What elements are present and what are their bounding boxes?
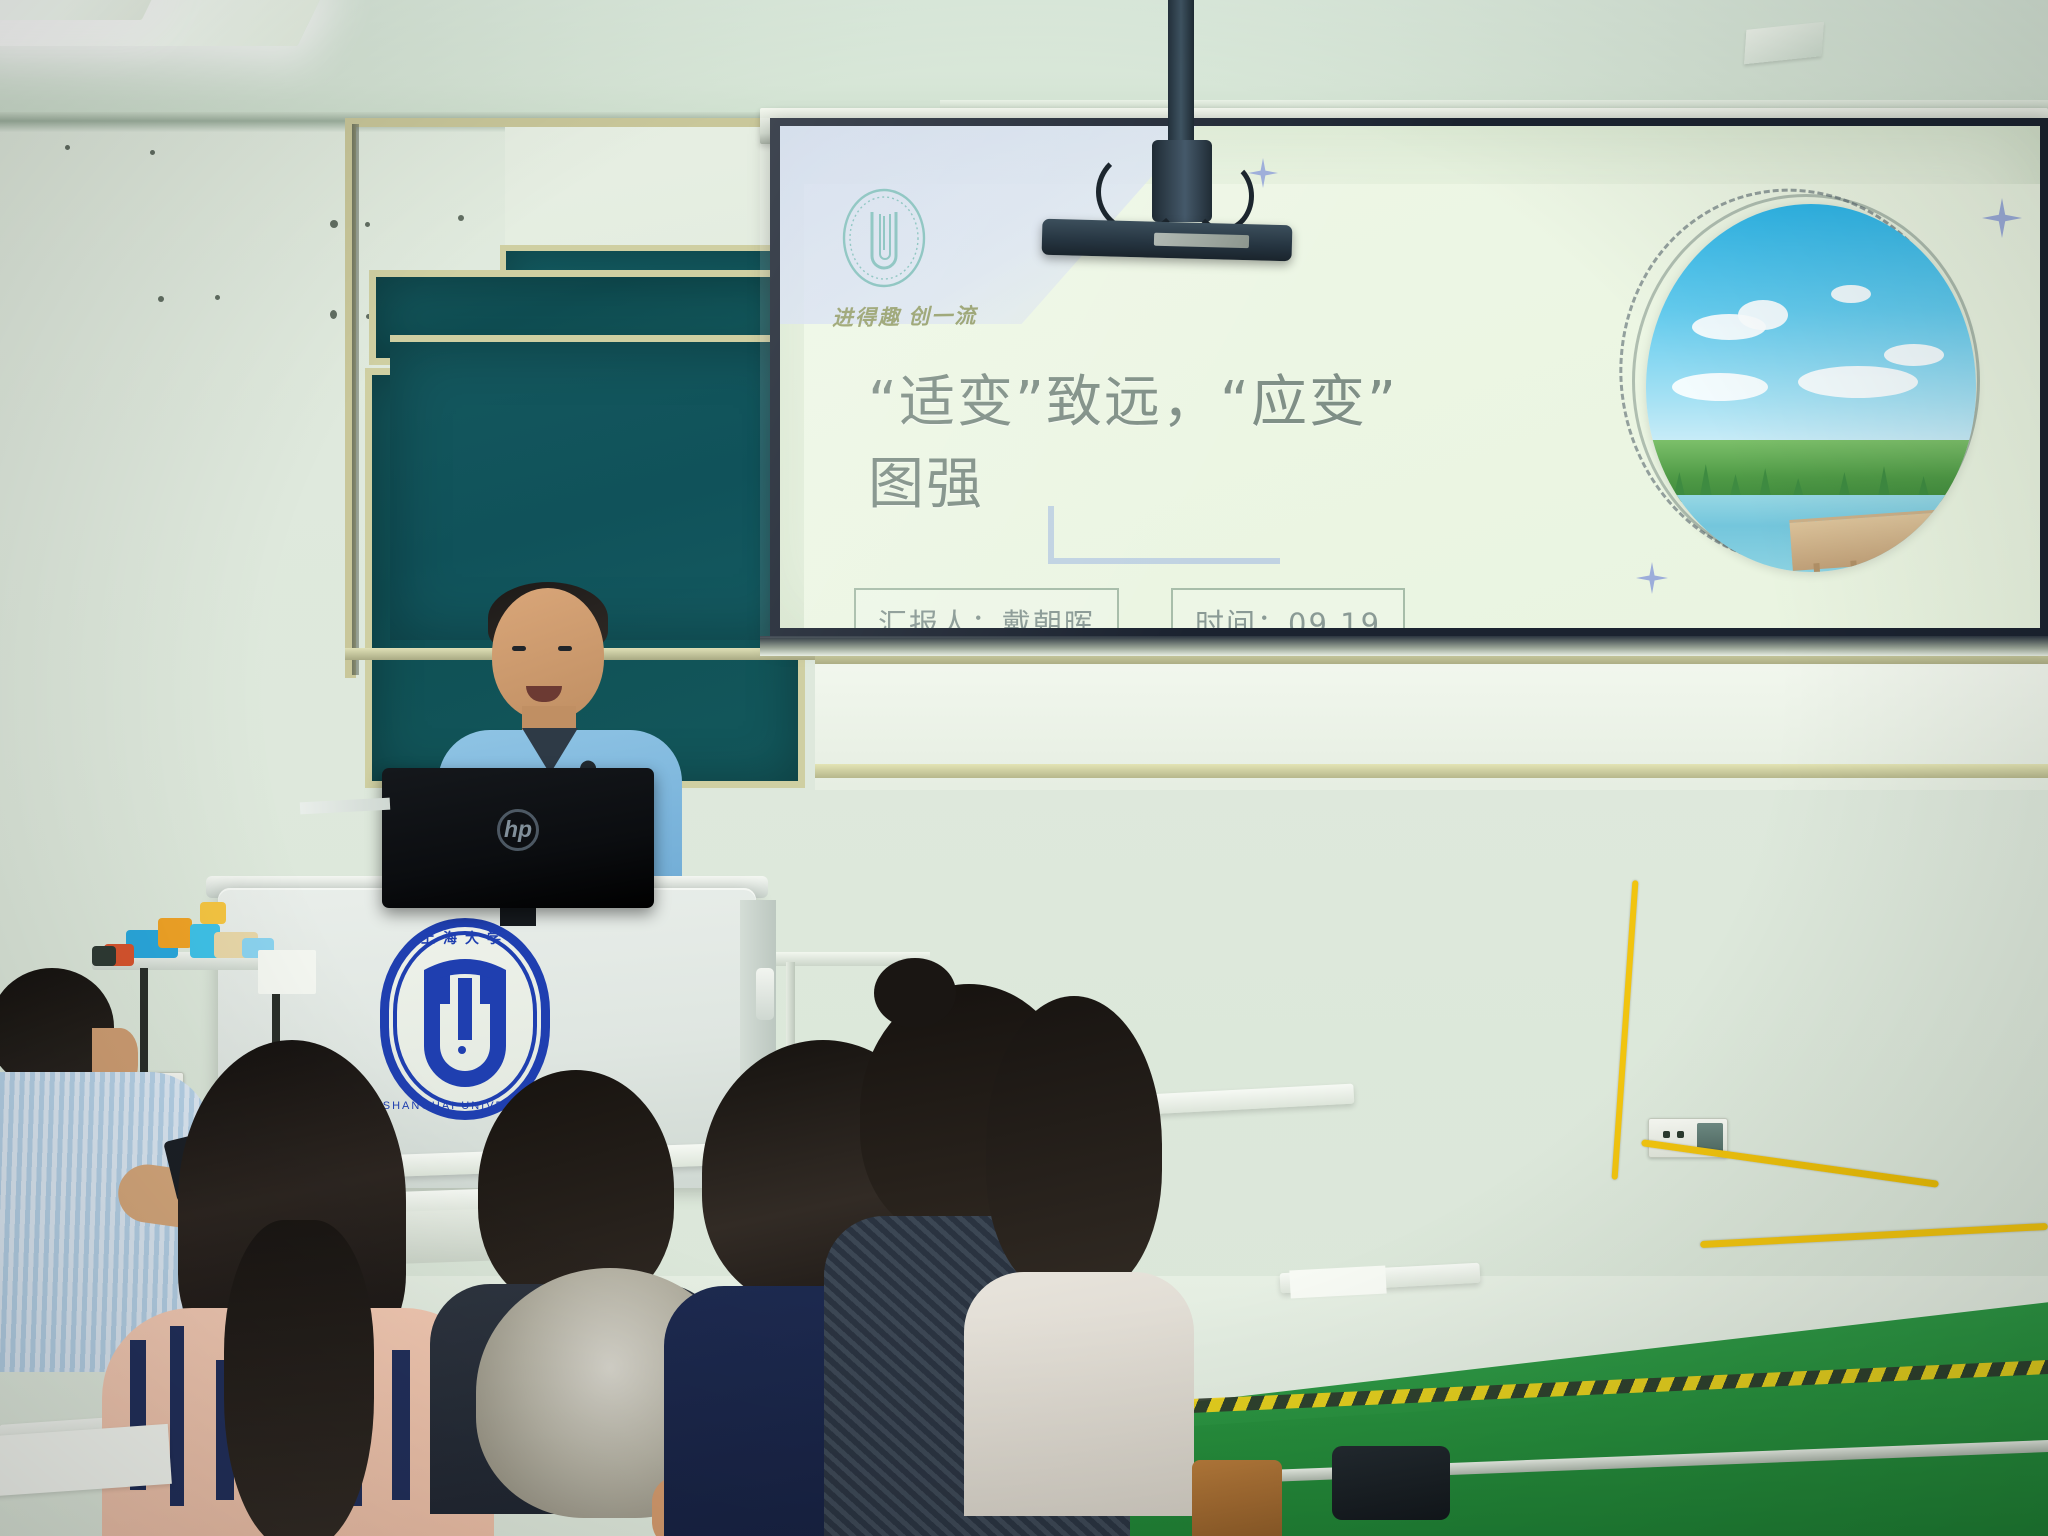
display-object [92, 946, 116, 966]
wall-hole [330, 220, 338, 228]
paper-sheet [0, 1424, 172, 1496]
hp-monitor[interactable]: hp [382, 768, 654, 908]
slide-title-line2: 图强 [868, 444, 1508, 526]
whiteboard-strip [815, 640, 2048, 790]
audience-member [960, 996, 1190, 1516]
display-object [158, 918, 192, 948]
slide-title: “适变”致远，“应变” 图强 [868, 362, 1508, 526]
hair [986, 996, 1162, 1296]
podium-microphone [756, 968, 774, 1020]
hair-lower [224, 1220, 374, 1536]
slide-surface: 进得趣 创一流 “适变”致远，“应变” 图强 汇报人：戴朝晖 时间：09.19 [780, 126, 2040, 628]
whiteboard-rail-bottom [815, 764, 2048, 778]
screen-bottom-bar [760, 636, 2048, 656]
wall-hole [158, 296, 164, 302]
slide-tagline: 进得趣 创一流 [832, 300, 978, 333]
hair-bun [874, 958, 956, 1028]
photo-sky [1646, 204, 1976, 469]
speaker-label [1154, 233, 1249, 248]
wall-switch-plate[interactable] [258, 950, 316, 994]
torso [964, 1272, 1194, 1516]
wall-hole [150, 150, 155, 155]
wall-hole [65, 145, 70, 150]
mount-cable [1192, 160, 1254, 232]
classroom-scene: 进得趣 创一流 “适变”致远，“应变” 图强 汇报人：戴朝晖 时间：09.19 [0, 0, 2048, 1536]
ceiling-peeling-patch [1744, 22, 1824, 65]
presenter-box: 汇报人：戴朝晖 [854, 588, 1119, 628]
chair-back [1192, 1460, 1282, 1536]
wall-hole [215, 295, 220, 300]
bag [1332, 1446, 1450, 1520]
projection-screen[interactable]: 进得趣 创一流 “适变”致远，“应变” 图强 汇报人：戴朝晖 时间：09.19 [770, 118, 2048, 638]
university-seal-icon [840, 186, 928, 291]
slide-meta-row: 汇报人：戴朝晖 时间：09.19 [854, 588, 1405, 628]
wall-hole [330, 310, 337, 319]
ceiling-light-glow [0, 0, 158, 20]
photo-treeline [1646, 440, 1976, 503]
date-box: 时间：09.19 [1171, 588, 1405, 628]
ceiling-speaker-bar [1042, 219, 1293, 262]
display-object [200, 902, 226, 924]
hp-logo: hp [497, 809, 539, 851]
campus-photo [1646, 204, 1976, 572]
slide-title-line1: “适变”致远，“应变” [868, 362, 1508, 444]
slide-photo-ring [1646, 204, 1976, 572]
paper-sheet [1289, 1266, 1386, 1299]
